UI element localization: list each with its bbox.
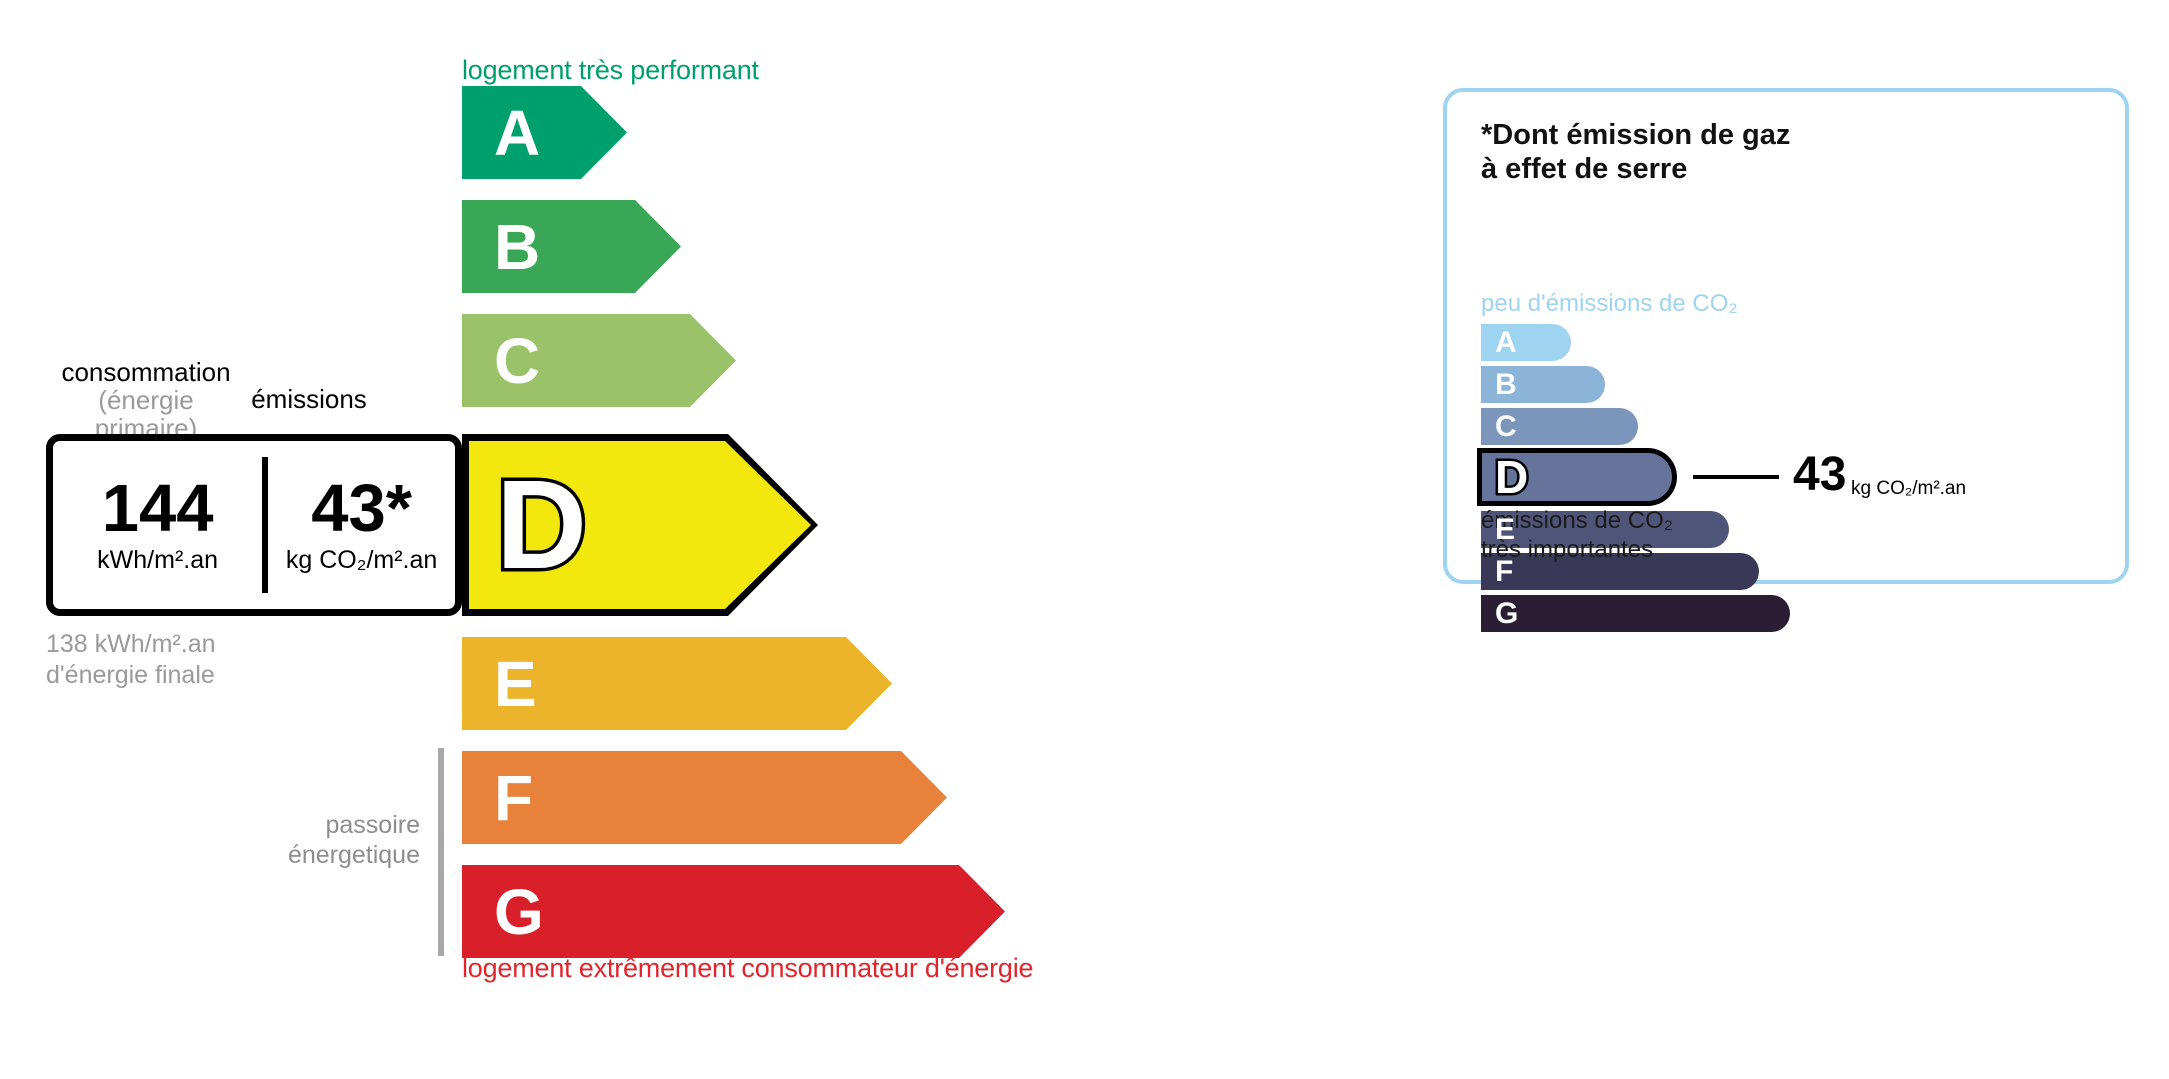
passoire-bracket (438, 748, 444, 956)
energy-class-row-b[interactable]: B (462, 200, 681, 293)
ges-class-row-e[interactable]: E (1481, 511, 1729, 548)
energy-class-letter-a: A (494, 101, 540, 165)
ges-class-letter-b: B (1495, 366, 1605, 403)
energy-class-letter-c: C (494, 329, 540, 393)
emissions-unit: kg CO₂/m².an (286, 546, 437, 575)
consumption-label-line1: consommation (46, 358, 246, 386)
ges-class-letter-d: D (1495, 448, 1677, 506)
energy-class-letter-b: B (494, 215, 540, 279)
ges-class-letter-e: E (1495, 511, 1729, 548)
ges-class-letter-a: A (1495, 324, 1571, 361)
emissions-value: 43* (311, 475, 412, 543)
final-energy-note: 138 kWh/m².an d'énergie finale (46, 629, 216, 690)
ges-value: 43 (1793, 451, 1846, 499)
ges-class-row-c[interactable]: C (1481, 408, 1638, 445)
energy-class-row-d-selected[interactable]: D (462, 434, 818, 616)
passoire-line2: énergetique (180, 840, 420, 870)
emissions-value-cell: 43* kg CO₂/m².an (268, 441, 455, 609)
energy-arrow-g: G (462, 865, 1005, 958)
passoire-line1: passoire (180, 810, 420, 840)
energy-class-letter-e: E (494, 652, 537, 716)
ges-title-line2: à effet de serre (1481, 152, 1790, 186)
ges-title-line1: *Dont émission de gaz (1481, 118, 1790, 152)
final-energy-line1: 138 kWh/m².an (46, 629, 216, 660)
energy-top-caption: logement très performant (462, 55, 759, 86)
energy-bottom-caption: logement extrêmement consommateur d'éner… (462, 953, 1033, 984)
ges-class-row-d-selected[interactable]: D (1477, 448, 1677, 506)
energy-arrow-shape-a (462, 86, 627, 179)
ges-class-row-f[interactable]: F (1481, 553, 1759, 590)
energy-arrow-d: D (462, 434, 818, 616)
ges-class-letter-g: G (1495, 595, 1790, 632)
ges-class-row-g[interactable]: G (1481, 595, 1790, 632)
consumption-unit: kWh/m².an (97, 546, 218, 575)
ges-panel: *Dont émission de gaz à effet de serre p… (1443, 88, 2129, 584)
consumption-value-cell: 144 kWh/m².an (53, 441, 262, 609)
energy-arrow-f: F (462, 751, 947, 844)
energy-performance-panel: logement très performant A B C (0, 0, 1420, 1079)
energy-class-letter-d: D (496, 462, 587, 588)
energy-class-row-g[interactable]: G (462, 865, 1005, 958)
energy-class-row-a[interactable]: A (462, 86, 627, 179)
ges-class-letter-f: F (1495, 553, 1759, 590)
energy-arrow-e: E (462, 637, 892, 730)
energy-arrow-c: C (462, 314, 736, 407)
ges-top-caption: peu d'émissions de CO₂ (1481, 290, 1738, 318)
ges-class-row-b[interactable]: B (1481, 366, 1605, 403)
energy-class-letter-g: G (494, 880, 544, 944)
consumption-value: 144 (102, 475, 214, 543)
ges-class-row-a[interactable]: A (1481, 324, 1571, 361)
value-box: 144 kWh/m².an 43* kg CO₂/m².an (46, 434, 462, 616)
energy-class-row-e[interactable]: E (462, 637, 892, 730)
energy-class-letter-f: F (494, 766, 533, 830)
energy-arrow-shape-f (462, 751, 947, 844)
ges-class-letter-c: C (1495, 408, 1638, 445)
ges-value-unit: kg CO₂/m².an (1851, 478, 1966, 500)
energy-arrow-a: A (462, 86, 627, 179)
ges-leader-line (1693, 475, 1779, 479)
passoire-label: passoire énergetique (180, 810, 420, 870)
final-energy-line2: d'énergie finale (46, 660, 216, 691)
dpe-diagram: logement très performant A B C (0, 0, 2169, 1079)
ges-title: *Dont émission de gaz à effet de serre (1481, 118, 1790, 186)
emissions-label: émissions (216, 384, 402, 415)
energy-arrow-b: B (462, 200, 681, 293)
energy-class-row-f[interactable]: F (462, 751, 947, 844)
energy-class-row-c[interactable]: C (462, 314, 736, 407)
